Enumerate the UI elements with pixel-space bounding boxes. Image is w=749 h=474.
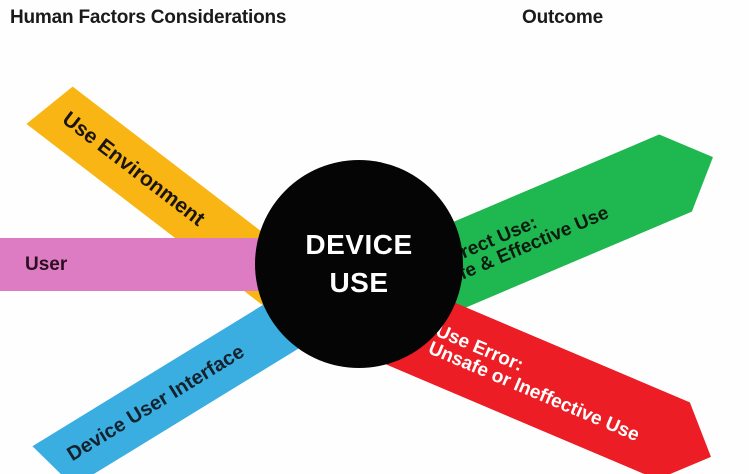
outcome-arrow-use-error-label: Use Error: Unsafe or Ineffective Use — [425, 321, 649, 445]
diagram-canvas: Human Factors Considerations Outcome Use… — [0, 0, 749, 474]
center-hub-device-use: DEVICE USE — [255, 160, 463, 368]
input-band-use-environment-label: Use Environment — [58, 108, 208, 230]
input-band-device-user-interface-label: Device User Interface — [64, 341, 248, 465]
center-hub-line-2: USE — [329, 264, 388, 302]
column-header-outcome: Outcome — [522, 7, 603, 29]
input-band-user-label: User — [25, 255, 67, 274]
center-hub-line-1: DEVICE — [305, 226, 412, 264]
column-header-human-factors: Human Factors Considerations — [10, 7, 286, 29]
